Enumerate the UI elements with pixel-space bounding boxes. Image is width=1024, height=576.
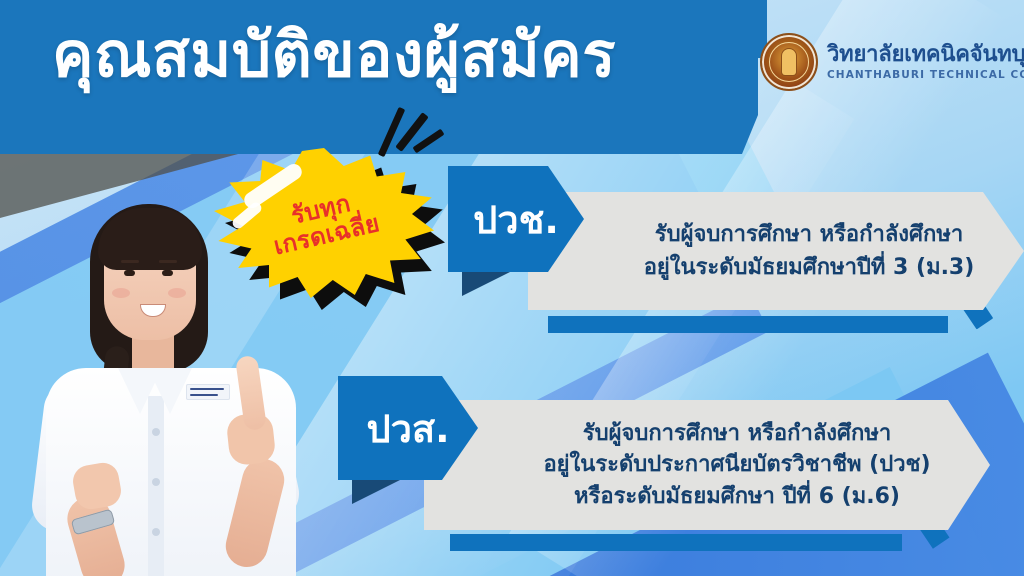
card-tab-shadow bbox=[462, 272, 510, 296]
eyebrow-left bbox=[121, 260, 139, 263]
shirt-button bbox=[152, 478, 160, 486]
card-tab-shadow bbox=[352, 480, 400, 504]
card-text-line: หรือระดับมัธยมศึกษา ปีที่ 6 (ม.6) bbox=[574, 481, 900, 512]
name-tag-line bbox=[190, 388, 224, 390]
logo-text-block: วิทยาลัยเทคนิคจันทบุรี CHANTHABURI TECHN… bbox=[827, 44, 1024, 81]
starburst-badge: รับทุก เกรดเฉลี่ย bbox=[214, 148, 434, 298]
card-underbar bbox=[548, 316, 948, 333]
logo-name-english: CHANTHABURI TECHNICAL COLLEGE bbox=[827, 70, 1024, 81]
card-panel: รับผู้จบการศึกษา หรือกำลังศึกษา อยู่ในระ… bbox=[424, 400, 990, 530]
logo-name-thai: วิทยาลัยเทคนิคจันทบุรี bbox=[827, 44, 1024, 66]
card-underbar bbox=[450, 534, 902, 551]
poster-canvas: คุณสมบัติของผู้สมัคร วิทยาลัยเทคนิคจันทบ… bbox=[0, 0, 1024, 576]
qualification-card-pvch: รับผู้จบการศึกษา หรือกำลังศึกษา อยู่ในระ… bbox=[448, 166, 1024, 336]
card-text-line: อยู่ในระดับมัธยมศึกษาปีที่ 3 (ม.3) bbox=[644, 251, 975, 284]
starburst-text: รับทุก เกรดเฉลี่ย bbox=[200, 125, 448, 321]
college-logo: วิทยาลัยเทคนิคจันทบุรี CHANTHABURI TECHN… bbox=[760, 33, 1024, 91]
college-seal-icon bbox=[760, 33, 818, 91]
hair-front bbox=[98, 208, 202, 270]
card-text-line: รับผู้จบการศึกษา หรือกำลังศึกษา bbox=[655, 218, 963, 251]
name-tag-line bbox=[190, 394, 218, 396]
pointing-hand bbox=[224, 356, 276, 466]
eyebrow-right bbox=[159, 260, 177, 263]
eye-left bbox=[124, 270, 135, 276]
page-title: คุณสมบัติของผู้สมัคร bbox=[52, 22, 616, 89]
shirt-button bbox=[152, 528, 160, 536]
card-text-line: อยู่ในระดับประกาศนียบัตรวิชาชีพ (ปวช) bbox=[543, 449, 930, 480]
qualification-card-pvs: รับผู้จบการศึกษา หรือกำลังศึกษา อยู่ในระ… bbox=[338, 376, 1024, 556]
shirt-button bbox=[152, 428, 160, 436]
card-panel: รับผู้จบการศึกษา หรือกำลังศึกษา อยู่ในระ… bbox=[528, 192, 1024, 310]
eye-right bbox=[162, 270, 173, 276]
cheek-left bbox=[112, 288, 130, 298]
shirt-placket bbox=[148, 396, 164, 576]
cheek-right bbox=[168, 288, 186, 298]
card-text-line: รับผู้จบการศึกษา หรือกำลังศึกษา bbox=[583, 418, 891, 449]
